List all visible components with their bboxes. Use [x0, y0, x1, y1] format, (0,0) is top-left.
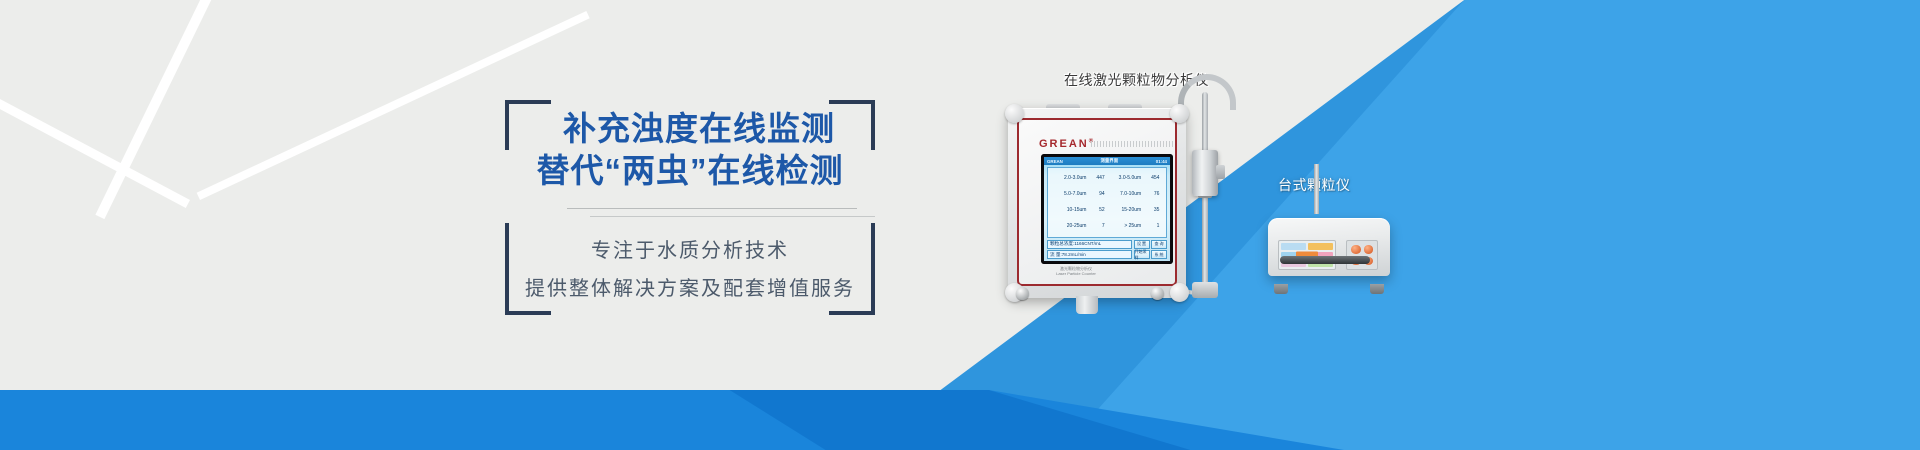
divider-line-2 — [590, 216, 875, 217]
lcd-status-row: 流 量:78.2mL/min 开始采样 系 统 — [1047, 250, 1167, 259]
tubing-upper — [1202, 92, 1208, 154]
device-footer-text: 激光颗粒物分析仪 Laser Particle Counter — [1041, 266, 1111, 276]
brand-text: GREAN — [1039, 138, 1089, 150]
headline-line-1: 补充浊度在线监测 — [505, 108, 875, 150]
bench-support-rod — [1314, 164, 1319, 214]
lcd-table-row: 10-15um 52 15-20um 35 — [1050, 207, 1164, 214]
device-lcd-screen[interactable]: GREAN 测量界面 01:44 2.0-3.0um 447 3.0-5.0um… — [1041, 154, 1173, 264]
lcd-cell-label: > 25um — [1105, 223, 1141, 230]
bench-foot-right — [1370, 284, 1384, 294]
lcd-data-table: 2.0-3.0um 447 3.0-5.0um 454 5.0-7.0um 94… — [1047, 167, 1167, 238]
decor-hatch-lines — [1091, 141, 1175, 147]
lcd-cell-value: 7 — [1086, 223, 1104, 230]
enclosure-screw-right — [1151, 287, 1164, 300]
drain-valve — [1192, 282, 1218, 298]
lcd-cell-label: 3.0-5.0um — [1105, 175, 1141, 182]
lcd-cell-value: 35 — [1141, 207, 1159, 214]
lcd-flow-field: 流 量:78.2mL/min — [1047, 250, 1132, 259]
headline-line-2: 替代“两虫”在线检测 — [505, 150, 875, 192]
enclosure-screw-left — [1016, 287, 1029, 300]
lcd-status: 01:44 — [1156, 159, 1167, 164]
decor-streak-2 — [0, 87, 190, 208]
bench-chassis — [1268, 218, 1390, 276]
lcd-table-row: 20-25um 7 > 25um 1 — [1050, 223, 1164, 230]
lcd-table-row: 5.0-7.0um 94 7.0-10um 76 — [1050, 191, 1164, 198]
lcd-cell-label: 10-15um — [1050, 207, 1086, 214]
headline: 补充浊度在线监测 替代“两虫”在线检测 — [505, 108, 875, 192]
cable-gland — [1076, 296, 1098, 314]
divider-line-1 — [567, 208, 857, 209]
lcd-status-row: 颗粒总浓度:1166CNT/mL 设 置 查 询 — [1047, 240, 1167, 249]
enclosure-mount-top-left — [1005, 104, 1024, 123]
lcd-surface: GREAN 测量界面 01:44 2.0-3.0um 447 3.0-5.0um… — [1044, 157, 1170, 261]
promo-banner: 补充浊度在线监测 替代“两虫”在线检测 专注于水质分析技术 提供整体解决方案及配… — [0, 0, 1920, 450]
bench-tile — [1281, 243, 1306, 250]
lcd-cell-value: 1 — [1141, 223, 1159, 230]
lcd-cell-value: 94 — [1086, 191, 1104, 198]
lcd-brand: GREAN — [1047, 159, 1063, 164]
bench-key[interactable] — [1364, 245, 1374, 254]
sensor-module — [1192, 150, 1218, 196]
lcd-cell-value: 52 — [1086, 207, 1104, 214]
bench-key[interactable] — [1351, 245, 1361, 254]
bench-sample-slot — [1280, 256, 1370, 264]
lcd-button-system[interactable]: 系 统 — [1151, 250, 1167, 259]
device-online-analyzer: GREAN® GREAN 测量界面 01:44 2.0-3.0um — [1008, 108, 1186, 298]
lcd-cell-value: 76 — [1141, 191, 1159, 198]
lcd-cell-label: 7.0-10um — [1105, 191, 1141, 198]
tubing-lower — [1202, 194, 1208, 286]
subtitle-line-2: 提供整体解决方案及配套增值服务 — [505, 272, 875, 301]
sensor-connector — [1216, 165, 1225, 179]
lcd-cell-value: 454 — [1141, 175, 1159, 182]
lcd-table-row: 2.0-3.0um 447 3.0-5.0um 454 — [1050, 175, 1164, 182]
device-brand-logo: GREAN® — [1039, 138, 1095, 150]
lcd-status-fields: 颗粒总浓度:1166CNT/mL 设 置 查 询 流 量:78.2mL/min … — [1047, 240, 1167, 260]
device-bench-counter — [1268, 212, 1390, 294]
lcd-button-sample[interactable]: 开始采样 — [1134, 250, 1150, 259]
lcd-button-settings[interactable]: 设 置 — [1134, 240, 1150, 249]
device-footer-en: Laser Particle Counter — [1041, 271, 1111, 276]
lcd-cell-label: 5.0-7.0um — [1050, 191, 1086, 198]
headline-panel: 补充浊度在线监测 替代“两虫”在线检测 专注于水质分析技术 提供整体解决方案及配… — [505, 100, 875, 315]
lcd-cell-value: 447 — [1086, 175, 1104, 182]
enclosure-mount-top-right — [1170, 104, 1189, 123]
lcd-title-bar: GREAN 测量界面 01:44 — [1044, 157, 1170, 165]
bench-display[interactable] — [1278, 240, 1336, 270]
enclosure-red-frame: GREAN® GREAN 测量界面 01:44 2.0-3.0um — [1017, 118, 1177, 286]
lcd-cell-label: 20-25um — [1050, 223, 1086, 230]
lcd-cell-label: 2.0-3.0um — [1050, 175, 1086, 182]
bench-keypad[interactable] — [1346, 240, 1378, 270]
subtitle-line-1: 专注于水质分析技术 — [505, 234, 875, 263]
bench-tile — [1308, 243, 1333, 250]
lcd-cell-label: 15-20um — [1105, 207, 1141, 214]
enclosure-mount-bottom-right — [1170, 283, 1189, 302]
enclosure-body: GREAN® GREAN 测量界面 01:44 2.0-3.0um — [1008, 108, 1186, 298]
bench-foot-left — [1274, 284, 1288, 294]
lcd-concentration-field: 颗粒总浓度:1166CNT/mL — [1047, 240, 1132, 249]
lcd-button-query[interactable]: 查 询 — [1151, 240, 1167, 249]
lcd-title: 测量界面 — [1101, 158, 1119, 164]
